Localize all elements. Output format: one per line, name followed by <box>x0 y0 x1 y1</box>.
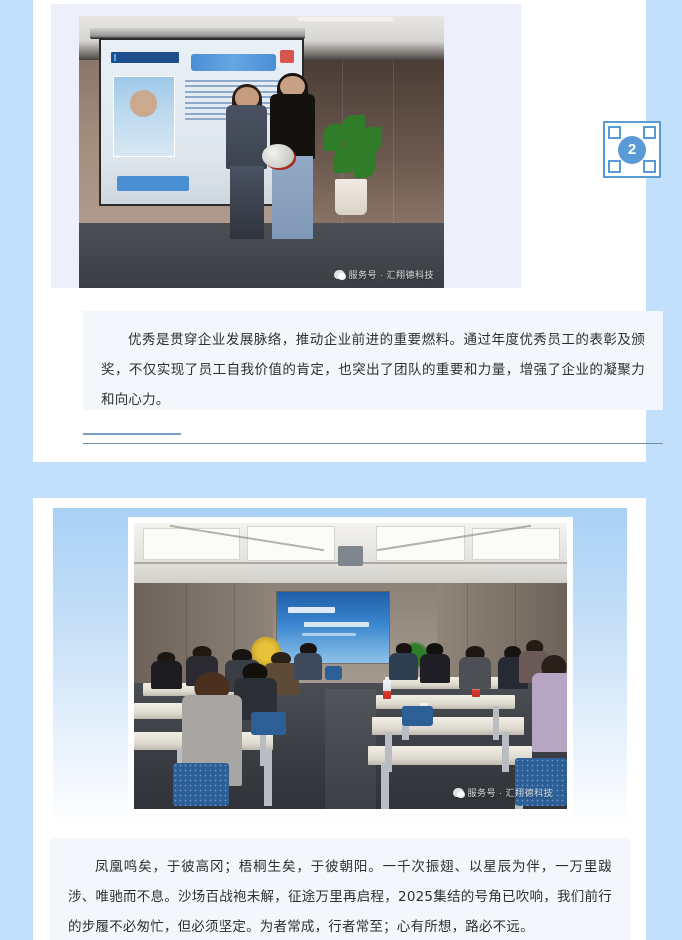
badge-number: 2 <box>618 136 646 164</box>
divider-short-rule <box>83 433 181 435</box>
photo1-screen-roller <box>90 28 305 39</box>
photo2-attendee <box>459 646 491 689</box>
badge-corner-bottom-right-icon <box>643 160 656 173</box>
photo1-plant-pot <box>335 179 368 214</box>
slide-title-banner <box>191 54 275 72</box>
photo2-attendee <box>389 643 417 680</box>
section-1-card: 服务号 · 汇翔德科技 2 优秀是贯穿企业发展脉络，推动企业前进的重要燃料。通过… <box>33 0 646 462</box>
photo2-slide-subtitle <box>304 622 369 627</box>
section-1-paragraph: 优秀是贯穿企业发展脉络，推动企业前进的重要燃料。通过年度优秀员工的表彰及颁奖，不… <box>101 325 645 415</box>
section-2-paragraph: 凤凰鸣矣，于彼高冈；梧桐生矣，于彼朝阳。一千次振翅、以星辰为伴，一万里跋涉、唯驰… <box>68 852 612 940</box>
section-gap-band <box>0 462 682 498</box>
photo1-person-left <box>225 87 269 239</box>
section-2-textbox: 凤凰鸣矣，于彼高冈；梧桐生矣，于彼朝阳。一千次振翅、以星辰为伴，一万里跋涉、唯驰… <box>50 838 630 940</box>
award-ceremony-photo: 服务号 · 汇翔德科技 <box>79 16 444 288</box>
photo2-projector <box>338 546 364 566</box>
photo1-wall-seam <box>393 60 394 229</box>
photo2-slide-title <box>288 607 335 613</box>
photo2-attendee <box>420 643 450 683</box>
badge-corner-bottom-left-icon <box>608 160 621 173</box>
slide-portrait-photo <box>113 76 175 156</box>
divider-long-rule <box>83 443 663 444</box>
meeting-room-photo-image: 服务号 · 汇翔德科技 <box>134 523 567 809</box>
photo2-slide-footnote <box>302 633 356 636</box>
photo2-attendee-front <box>532 655 567 752</box>
badge-corner-top-left-icon <box>608 126 621 139</box>
section-2-photo-panel: 服务号 · 汇翔德科技 <box>53 508 627 828</box>
section-number-badge: 2 <box>603 121 661 178</box>
article-page: 服务号 · 汇翔德科技 2 优秀是贯穿企业发展脉络，推动企业前进的重要燃料。通过… <box>0 0 682 940</box>
slide-name-label <box>117 176 189 191</box>
photo2-attendee <box>294 643 322 680</box>
section-1-textbox: 优秀是贯穿企业发展脉络，推动企业前进的重要燃料。通过年度优秀员工的表彰及颁奖，不… <box>83 311 663 410</box>
meeting-room-photo: 服务号 · 汇翔德科技 <box>128 517 573 815</box>
slide-tag-label <box>111 52 179 63</box>
photo1-plant <box>320 114 386 185</box>
photo1-ceiling-light <box>298 17 393 21</box>
photo2-attendee <box>151 652 181 689</box>
badge-corner-top-right-icon <box>643 126 656 139</box>
slide-logo-icon <box>280 50 294 63</box>
section-1-photo-frame: 服务号 · 汇翔德科技 <box>51 4 521 288</box>
